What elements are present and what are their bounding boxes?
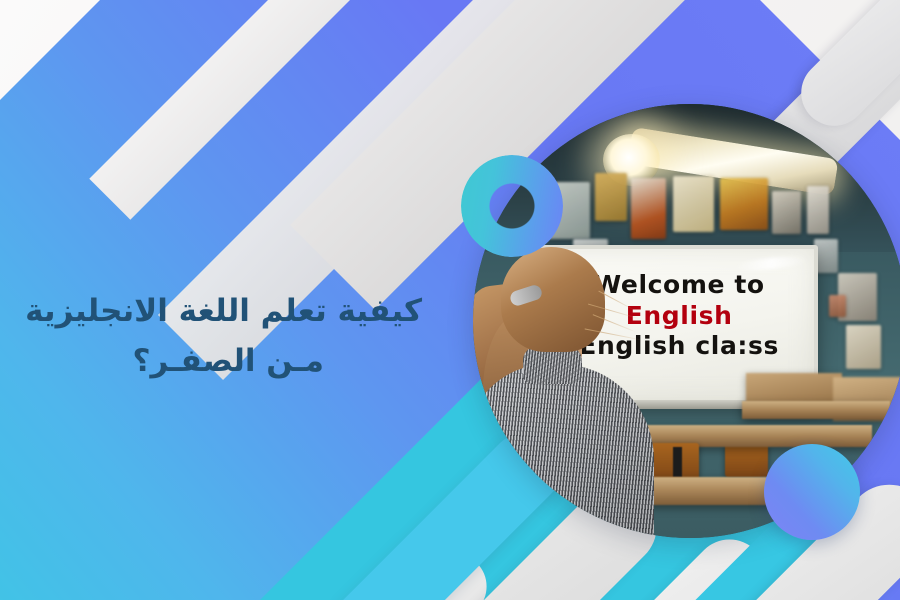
headline-line-2: مـن الصفـر؟ (0, 336, 422, 386)
wall-poster (846, 325, 881, 368)
wall-poster (673, 176, 714, 232)
student-figure (473, 247, 681, 538)
striped-shirt (473, 364, 654, 538)
banner-canvas: Welcome to English English cla:ss (0, 0, 900, 600)
headline: كيفية تعلم اللغة الانجليزية مـن الصفـر؟ (0, 286, 430, 386)
wall-poster (631, 178, 666, 239)
classroom-desk (742, 401, 890, 418)
wall-poster (595, 173, 628, 221)
wall-poster (829, 295, 846, 317)
wall-poster (807, 186, 829, 234)
wall-poster (720, 178, 768, 230)
gradient-donut-ring (461, 155, 563, 257)
gradient-circle (764, 444, 860, 540)
wall-poster (772, 191, 800, 234)
headline-line-1: كيفية تعلم اللغة الانجليزية (0, 286, 422, 336)
classroom-chair (725, 443, 768, 478)
